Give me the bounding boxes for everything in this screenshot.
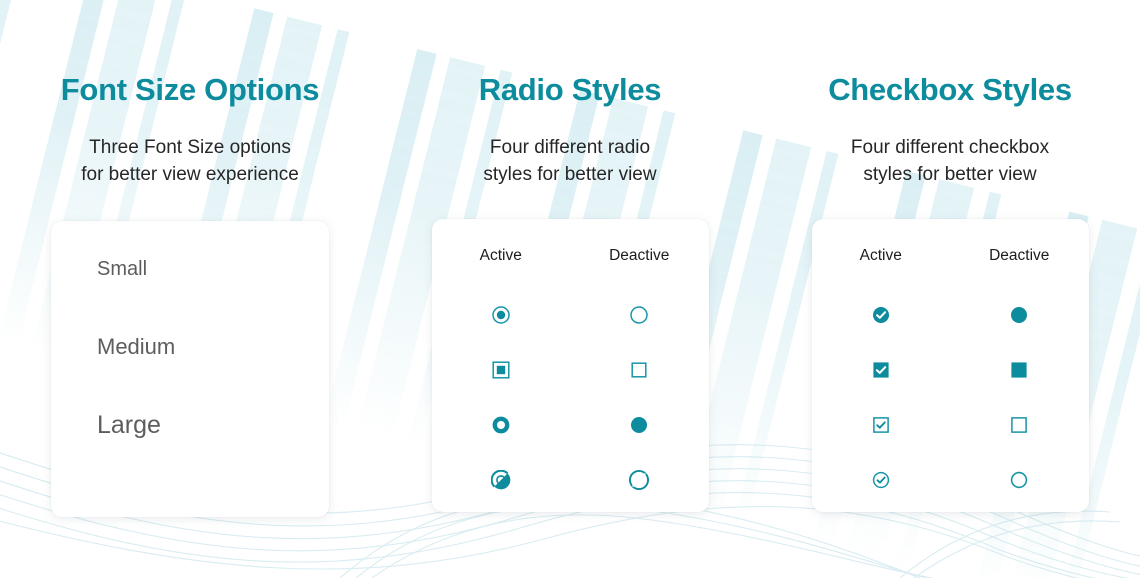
column-radio-styles: Radio Styles Four different radio styles…: [380, 0, 760, 578]
columns-container: Font Size Options Three Font Size option…: [0, 0, 1140, 578]
page-title-font-size: Font Size Options: [61, 74, 319, 105]
radio-donut-icon[interactable]: [432, 415, 571, 435]
subtitle-line-1: Four different radio: [483, 134, 656, 161]
check-circle-filled-icon[interactable]: [812, 305, 951, 325]
header-active: Active: [812, 247, 951, 265]
page-title-checkbox-styles: Checkbox Styles: [828, 74, 1072, 105]
radio-row-3: [432, 397, 709, 452]
radio-ring-dot-icon[interactable]: [432, 305, 571, 325]
check-circle-outline-icon[interactable]: [812, 470, 951, 490]
radio-styles-card: Active Deactive: [432, 219, 709, 512]
font-size-option-large[interactable]: Large: [97, 413, 329, 438]
check-square-outline-icon[interactable]: [812, 415, 951, 435]
radio-ring-empty-icon[interactable]: [570, 305, 709, 325]
column-font-size: Font Size Options Three Font Size option…: [0, 0, 380, 578]
checkbox-row-4: [812, 452, 1089, 507]
circle-filled-icon[interactable]: [950, 305, 1089, 325]
font-size-option-small[interactable]: Small: [97, 259, 329, 279]
font-size-card: Small Medium Large: [51, 221, 329, 517]
radio-slash-filled-icon[interactable]: [432, 470, 571, 490]
subtitle-line-2: for better view experience: [81, 161, 299, 188]
checkbox-column-headers: Active Deactive: [812, 247, 1089, 265]
radio-row-2: [432, 342, 709, 397]
checkbox-row-3: [812, 397, 1089, 452]
radio-square-filled-icon[interactable]: [432, 360, 571, 380]
radio-row-1: [432, 287, 709, 342]
checkbox-row-2: [812, 342, 1089, 397]
check-square-filled-icon[interactable]: [812, 360, 951, 380]
header-deactive: Deactive: [570, 247, 709, 265]
radio-square-empty-icon[interactable]: [570, 360, 709, 380]
font-size-option-medium[interactable]: Medium: [97, 336, 329, 358]
subtitle-line-2: styles for better view: [483, 161, 656, 188]
header-active: Active: [432, 247, 571, 265]
subtitle-font-size: Three Font Size options for better view …: [81, 134, 299, 188]
checkbox-row-1: [812, 287, 1089, 342]
radio-rows: [432, 287, 709, 507]
subtitle-line-1: Three Font Size options: [81, 134, 299, 161]
radio-circle-filled-icon[interactable]: [570, 415, 709, 435]
subtitle-line-2: styles for better view: [851, 161, 1049, 188]
subtitle-radio-styles: Four different radio styles for better v…: [483, 134, 656, 188]
subtitle-line-1: Four different checkbox: [851, 134, 1049, 161]
square-outline-icon[interactable]: [950, 415, 1089, 435]
radio-slash-empty-icon[interactable]: [570, 470, 709, 490]
subtitle-checkbox-styles: Four different checkbox styles for bette…: [851, 134, 1049, 188]
circle-outline-icon[interactable]: [950, 470, 1089, 490]
radio-column-headers: Active Deactive: [432, 247, 709, 265]
radio-row-4: [432, 452, 709, 507]
checkbox-rows: [812, 287, 1089, 507]
header-deactive: Deactive: [950, 247, 1089, 265]
checkbox-styles-card: Active Deactive: [812, 219, 1089, 512]
square-filled-icon[interactable]: [950, 360, 1089, 380]
column-checkbox-styles: Checkbox Styles Four different checkbox …: [760, 0, 1140, 578]
page-title-radio-styles: Radio Styles: [479, 74, 661, 105]
